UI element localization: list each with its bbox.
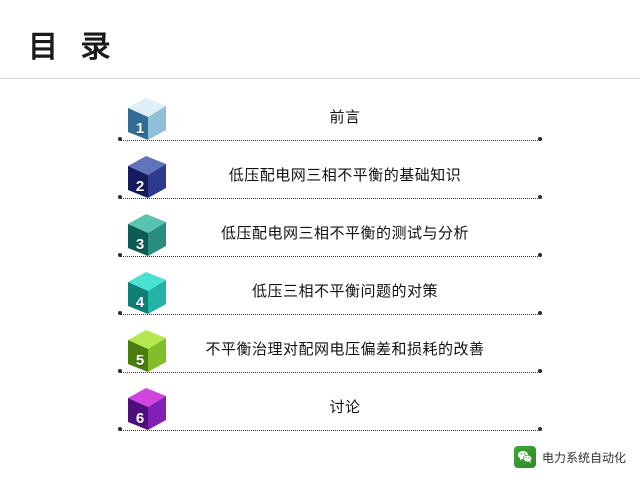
item-label: 不平衡治理对配网电压偏差和损耗的改善 xyxy=(150,338,540,359)
leader-line xyxy=(120,255,540,257)
item-number: 3 xyxy=(129,236,151,253)
list-item[interactable]: 4 低压三相不平衡问题的对策 xyxy=(0,266,640,324)
item-number: 1 xyxy=(129,120,151,137)
item-label: 讨论 xyxy=(150,396,540,417)
leader-line xyxy=(120,139,540,141)
list-item[interactable]: 3 低压配电网三相不平衡的测试与分析 xyxy=(0,208,640,266)
item-number: 2 xyxy=(129,178,151,195)
wechat-glyph-icon xyxy=(517,449,533,465)
leader-line xyxy=(120,313,540,315)
leader-line xyxy=(120,197,540,199)
footer-text: 电力系统自动化 xyxy=(542,449,626,466)
list-item[interactable]: 2 低压配电网三相不平衡的基础知识 xyxy=(0,150,640,208)
table-of-contents: 1 前言 2 低压配电网三相不平衡的基础知识 xyxy=(0,92,640,440)
item-number: 5 xyxy=(129,352,151,369)
list-item[interactable]: 1 前言 xyxy=(0,92,640,150)
leader-line xyxy=(120,429,540,431)
page-title: 目 录 xyxy=(28,22,116,66)
slide-canvas: 目 录 1 前言 2 xyxy=(0,0,640,480)
item-label: 低压配电网三相不平衡的基础知识 xyxy=(150,164,540,185)
item-number: 4 xyxy=(129,294,151,311)
list-item[interactable]: 5 不平衡治理对配网电压偏差和损耗的改善 xyxy=(0,324,640,382)
footer-logo: 电力系统自动化 xyxy=(514,446,626,468)
title-divider xyxy=(0,78,640,79)
item-label: 低压三相不平衡问题的对策 xyxy=(150,280,540,301)
leader-line xyxy=(120,371,540,373)
item-number: 6 xyxy=(129,410,151,427)
item-label: 前言 xyxy=(150,106,540,127)
list-item[interactable]: 6 讨论 xyxy=(0,382,640,440)
wechat-logo-icon xyxy=(514,446,536,468)
item-label: 低压配电网三相不平衡的测试与分析 xyxy=(150,222,540,243)
